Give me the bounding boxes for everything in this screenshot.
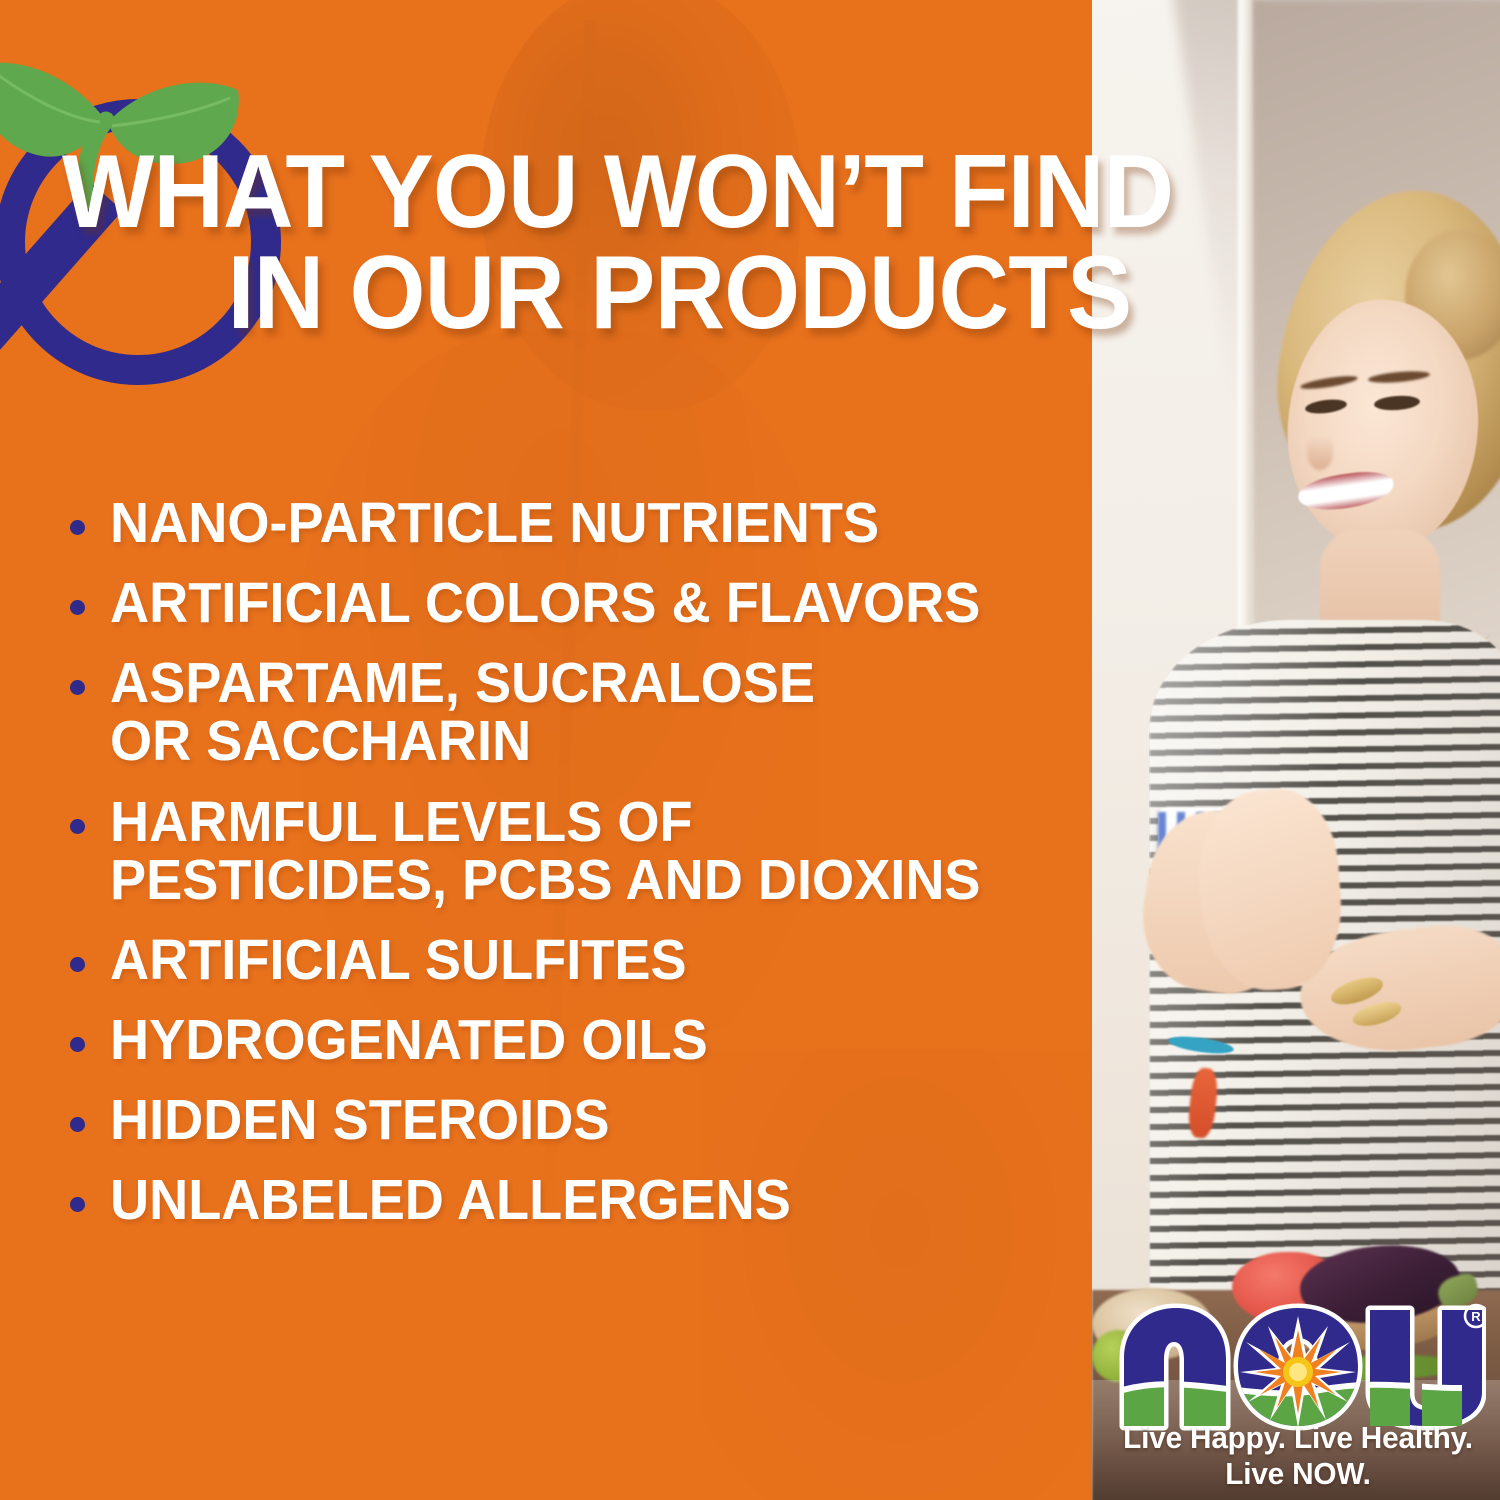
brand-tagline: Live Happy. Live Healthy. Live NOW. xyxy=(1119,1420,1476,1492)
marketing-poster: WHAT YOU WON’T FIND IN OUR PRODUCTS NANO… xyxy=(0,0,1500,1500)
bullet-dot-icon xyxy=(70,680,85,695)
svg-text:R: R xyxy=(1471,1309,1481,1324)
list-item-label: ARTIFICIAL COLORS & FLAVORS xyxy=(110,574,980,632)
list-item: ASPARTAME, SUCRALOSE OR SACCHARIN xyxy=(70,654,1080,770)
list-item-label: ASPARTAME, SUCRALOSE OR SACCHARIN xyxy=(110,654,815,770)
bullet-dot-icon xyxy=(70,819,85,834)
headline-pre: WHAT YOU xyxy=(62,134,604,250)
headline-post: FIND xyxy=(923,134,1174,250)
headline-emphasis: WON’T xyxy=(604,134,923,250)
bullet-dot-icon xyxy=(70,957,85,972)
list-item-label: UNLABELED ALLERGENS xyxy=(110,1171,791,1229)
bullet-dot-icon xyxy=(70,600,85,615)
list-item: NANO-PARTICLE NUTRIENTS xyxy=(70,494,1080,552)
doorframe xyxy=(1238,0,1252,690)
bullet-dot-icon xyxy=(70,520,85,535)
bullet-dot-icon xyxy=(70,1197,85,1212)
list-item: ARTIFICIAL SULFITES xyxy=(70,931,1080,989)
list-item-label: HYDROGENATED OILS xyxy=(110,1011,708,1069)
headline-line-1: WHAT YOU WON’T FIND xyxy=(62,142,1378,243)
list-item-label: NANO-PARTICLE NUTRIENTS xyxy=(110,494,879,552)
page-title: WHAT YOU WON’T FIND IN OUR PRODUCTS xyxy=(62,142,1378,344)
bullet-dot-icon xyxy=(70,1117,85,1132)
list-item-label: ARTIFICIAL SULFITES xyxy=(110,931,687,989)
list-item: UNLABELED ALLERGENS xyxy=(70,1171,1080,1229)
list-item-label: HIDDEN STEROIDS xyxy=(110,1091,609,1149)
list-item-label: HARMFUL LEVELS OF PESTICIDES, PCBS AND D… xyxy=(110,793,981,909)
list-item: HARMFUL LEVELS OF PESTICIDES, PCBS AND D… xyxy=(70,793,1080,909)
bullet-dot-icon xyxy=(70,1037,85,1052)
list-item: HYDROGENATED OILS xyxy=(70,1011,1080,1069)
headline-line-2: IN OUR PRODUCTS xyxy=(227,243,1378,344)
exclusion-list: NANO-PARTICLE NUTRIENTS ARTIFICIAL COLOR… xyxy=(70,494,1080,1251)
list-item: HIDDEN STEROIDS xyxy=(70,1091,1080,1149)
nose xyxy=(1307,436,1333,470)
list-item: ARTIFICIAL COLORS & FLAVORS xyxy=(70,574,1080,632)
